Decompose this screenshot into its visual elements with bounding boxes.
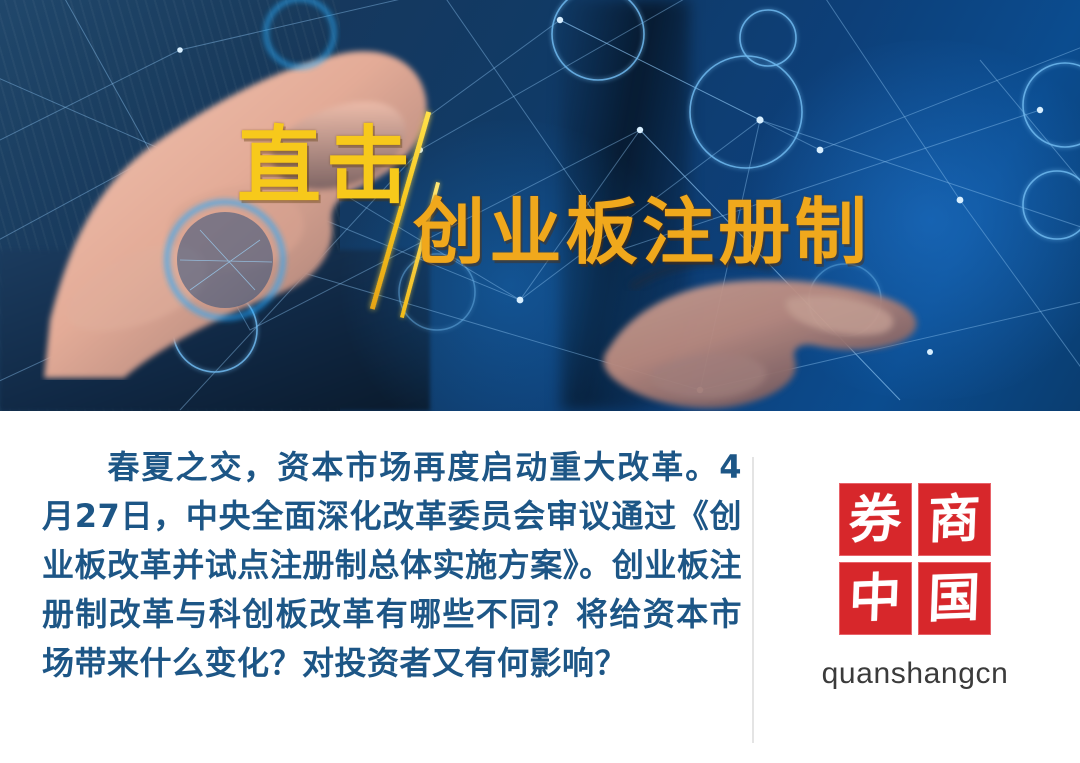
- quanshangcn-logo: 券 商 中 国: [839, 483, 991, 635]
- article-card: 直击 创业板注册制 春夏之交，资本市场再度启动重大改革。4月27日，中央全面深化…: [0, 0, 1080, 763]
- logo-char-shang: 商: [928, 493, 982, 547]
- logo-cell-guo: 国: [918, 562, 991, 635]
- brand-name: quanshangcn: [790, 657, 1040, 691]
- logo-char-zhong: 中: [849, 572, 903, 626]
- logo-cell-zhong: 中: [839, 562, 912, 635]
- vertical-divider: [752, 457, 754, 743]
- hand-left-icon: [40, 0, 510, 380]
- article-paragraph: 春夏之交，资本市场再度启动重大改革。4月27日，中央全面深化改革委员会审议通过《…: [42, 443, 742, 688]
- logo-cell-shang: 商: [918, 483, 991, 556]
- hand-right-icon: [595, 240, 955, 411]
- brand-block: 券 商 中 国 quanshangcn: [790, 483, 1040, 691]
- paragraph-text: 春夏之交，资本市场再度启动重大改革。4月27日，中央全面深化改革委员会审议通过《…: [42, 448, 742, 682]
- logo-char-quan: 券: [849, 493, 903, 547]
- logo-char-guo: 国: [928, 572, 982, 626]
- logo-cell-quan: 券: [839, 483, 912, 556]
- hero-banner: 直击 创业板注册制: [0, 0, 1080, 411]
- article-body-section: 春夏之交，资本市场再度启动重大改革。4月27日，中央全面深化改革委员会审议通过《…: [0, 411, 1080, 763]
